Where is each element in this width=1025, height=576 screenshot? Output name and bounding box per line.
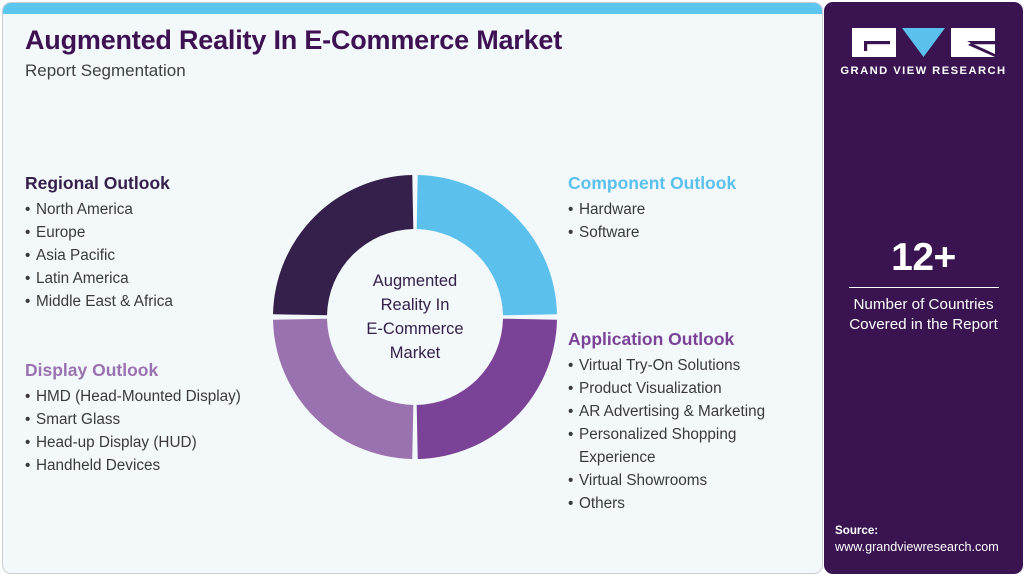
- logo-wordmark: GRAND VIEW RESEARCH: [840, 65, 1006, 77]
- list-item: Handheld Devices: [25, 454, 290, 477]
- application-outlook-block: Application Outlook Virtual Try-On Solut…: [568, 329, 820, 515]
- list-item: Virtual Try-On Solutions: [568, 354, 820, 377]
- page-subtitle: Report Segmentation: [25, 61, 785, 81]
- component-outlook-list: HardwareSoftware: [568, 198, 818, 244]
- display-outlook-block: Display Outlook HMD (Head-Mounted Displa…: [25, 360, 290, 477]
- component-outlook-heading: Component Outlook: [568, 173, 818, 193]
- application-outlook-list: Virtual Try-On SolutionsProduct Visualiz…: [568, 354, 820, 515]
- infographic-root: Augmented Reality In E-Commerce Market R…: [0, 0, 1025, 576]
- donut-segment: [417, 319, 557, 459]
- application-outlook-heading: Application Outlook: [568, 329, 820, 349]
- donut-segment: [273, 175, 413, 315]
- sidebar: GRAND VIEW RESEARCH 12+ Number of Countr…: [824, 2, 1023, 574]
- list-item: AR Advertising & Marketing: [568, 400, 820, 423]
- donut-segment: [417, 175, 557, 315]
- list-item: Software: [568, 221, 818, 244]
- regional-outlook-list: North AmericaEuropeAsia PacificLatin Ame…: [25, 198, 275, 313]
- list-item: North America: [25, 198, 275, 221]
- display-outlook-list: HMD (Head-Mounted Display)Smart GlassHea…: [25, 385, 290, 477]
- donut-svg: [271, 173, 559, 461]
- top-accent-bar: [3, 3, 822, 14]
- regional-outlook-block: Regional Outlook North AmericaEuropeAsia…: [25, 173, 275, 313]
- regional-outlook-heading: Regional Outlook: [25, 173, 275, 193]
- list-item: Personalized Shopping Experience: [568, 423, 820, 469]
- list-item: Asia Pacific: [25, 244, 275, 267]
- list-item: Latin America: [25, 267, 275, 290]
- stat-divider: [849, 287, 999, 288]
- list-item: Europe: [25, 221, 275, 244]
- list-item: Hardware: [568, 198, 818, 221]
- list-item: Head-up Display (HUD): [25, 431, 290, 454]
- source-block: Source: www.grandviewresearch.com: [835, 523, 1021, 556]
- list-item: Product Visualization: [568, 377, 820, 400]
- segmentation-donut-chart: AugmentedReality InE-CommerceMarket: [271, 173, 559, 461]
- stat-block: 12+ Number of Countries Covered in the R…: [824, 238, 1023, 335]
- page-title: Augmented Reality In E-Commerce Market: [25, 25, 785, 55]
- component-outlook-block: Component Outlook HardwareSoftware: [568, 173, 818, 244]
- header: Augmented Reality In E-Commerce Market R…: [25, 25, 785, 81]
- list-item: HMD (Head-Mounted Display): [25, 385, 290, 408]
- list-item: Smart Glass: [25, 408, 290, 431]
- brand-logo: GRAND VIEW RESEARCH: [824, 28, 1023, 77]
- display-outlook-heading: Display Outlook: [25, 360, 290, 380]
- list-item: Virtual Showrooms: [568, 469, 820, 492]
- gvr-logo-icon: [852, 28, 995, 57]
- source-label: Source:: [835, 523, 1021, 539]
- source-url: www.grandviewresearch.com: [835, 539, 1021, 556]
- list-item: Middle East & Africa: [25, 290, 275, 313]
- donut-segment: [273, 319, 413, 459]
- list-item: Others: [568, 492, 820, 515]
- stat-value: 12+: [824, 238, 1023, 277]
- stat-label: Number of Countries Covered in the Repor…: [824, 295, 1023, 335]
- main-panel: Augmented Reality In E-Commerce Market R…: [2, 2, 823, 574]
